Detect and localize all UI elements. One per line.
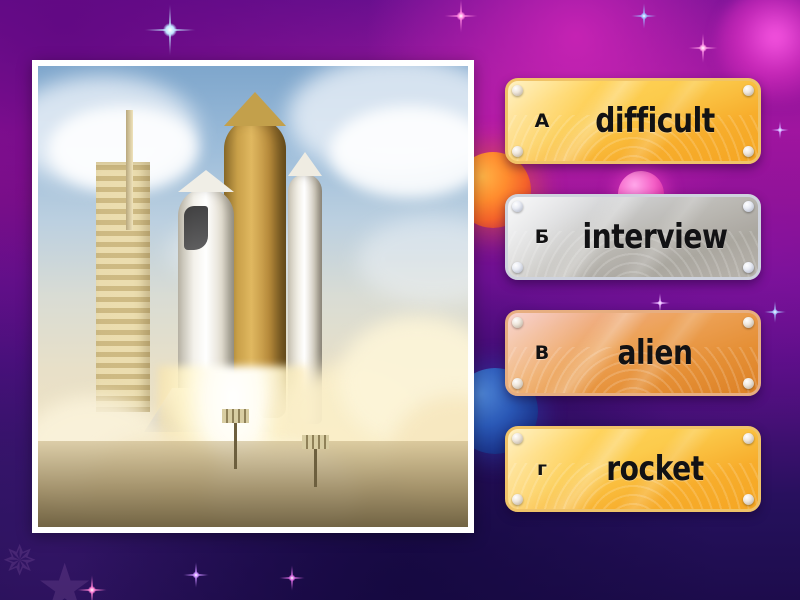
rivet-icon bbox=[743, 85, 754, 96]
answer-letter-a: А bbox=[520, 110, 564, 132]
quiz-screen: ✵ ★ bbox=[0, 0, 800, 600]
answer-option-v[interactable]: В alien bbox=[505, 310, 761, 396]
tower-mast bbox=[126, 110, 133, 230]
answer-option-b[interactable]: Б interview bbox=[505, 194, 761, 280]
answer-option-a[interactable]: А difficult bbox=[505, 78, 761, 164]
rivet-icon bbox=[512, 378, 523, 389]
answer-options-list: А difficult Б interview В alien bbox=[505, 78, 761, 512]
rivet-icon bbox=[512, 494, 523, 505]
launch-tower bbox=[96, 162, 150, 412]
answer-label-b: interview bbox=[571, 217, 738, 257]
rivet-icon bbox=[512, 85, 523, 96]
answer-label-g: rocket bbox=[571, 449, 738, 489]
rivet-icon bbox=[743, 146, 754, 157]
rivet-icon bbox=[743, 317, 754, 328]
rivet-icon bbox=[743, 201, 754, 212]
rivet-icon bbox=[512, 201, 523, 212]
shuttle-launch-photo bbox=[38, 66, 468, 527]
answer-option-g[interactable]: г rocket bbox=[505, 426, 761, 512]
answer-letter-v: В bbox=[520, 342, 564, 364]
rivet-icon bbox=[743, 378, 754, 389]
answer-letter-b: Б bbox=[520, 226, 564, 248]
orbiter-nose-tiles bbox=[184, 206, 208, 250]
rivet-icon bbox=[743, 262, 754, 273]
launch-pad-ground bbox=[38, 441, 468, 527]
rivet-icon bbox=[512, 317, 523, 328]
rivet-icon bbox=[512, 262, 523, 273]
pad-light-mast bbox=[314, 447, 317, 487]
question-image-frame bbox=[32, 60, 474, 533]
rivet-icon bbox=[512, 146, 523, 157]
answer-letter-g: г bbox=[520, 458, 564, 480]
rivet-icon bbox=[743, 433, 754, 444]
rivet-icon bbox=[512, 433, 523, 444]
answer-label-v: alien bbox=[571, 333, 738, 373]
answer-label-a: difficult bbox=[571, 101, 738, 141]
pad-light-mast bbox=[234, 421, 237, 469]
rivet-icon bbox=[743, 494, 754, 505]
